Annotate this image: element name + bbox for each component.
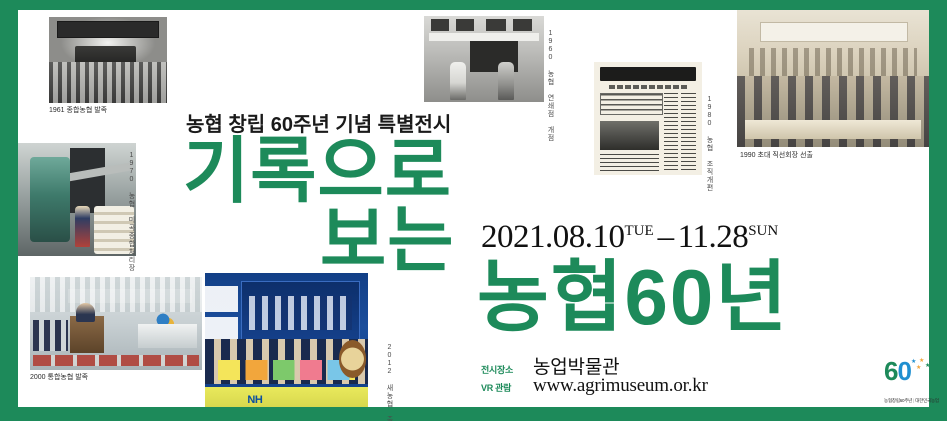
newspaper-summary-box (600, 93, 662, 115)
photo-chain-store (424, 16, 544, 102)
logo-caption-right: 대한민국농업 (915, 398, 939, 403)
photo-2000-podium (70, 316, 104, 353)
photo-2000-speaker (76, 303, 95, 322)
photo-caption-2012: 2012 새농협 출범 (386, 344, 393, 421)
logo-digit-0: 0 (897, 356, 910, 386)
date-separator: – (654, 219, 678, 255)
photo-caption-1961: 1961 종합농협 발족 (49, 107, 107, 114)
photo-2000-head-table (138, 324, 196, 348)
photo-caption-2000: 2000 통합농협 발족 (30, 374, 88, 381)
exhibition-poster: 1961 종합농협 발족 1970 농협 미곡종합처리장 가동 1960 농협 … (0, 0, 947, 421)
photo-2012-side-caption (205, 286, 238, 342)
photo-2000-image (30, 277, 202, 370)
photo-1961-crowd (49, 62, 167, 103)
date-end: 11.28 (678, 219, 749, 255)
logo-caption-left: 농협창립60주년 (884, 398, 912, 403)
poster-headline: 농협60년 (477, 258, 789, 336)
photo-2012-screen (241, 281, 360, 345)
newspaper-subhead-bar (609, 85, 687, 90)
logo-caption: 농협창립60주년|대한민국농업 (884, 398, 939, 404)
newspaper-body-text (600, 154, 658, 172)
photo-2000-merger (30, 277, 202, 370)
frame-left-bar (0, 0, 18, 421)
photo-mill-machine (30, 157, 70, 243)
newspaper-column-1 (664, 93, 678, 172)
photo-2012-letter-cards (218, 360, 355, 380)
photo-store-sign-4 (513, 19, 532, 31)
newspaper-headline-bar (600, 67, 695, 82)
photo-1990-election (737, 10, 929, 147)
photo-store-sign-1 (431, 19, 449, 31)
date-start: 2021.08.10 (481, 219, 625, 255)
newspaper-photo (600, 121, 658, 150)
logo-digits: 60 (884, 358, 911, 384)
photo-2012-stage-front: NH (205, 387, 368, 407)
star-icon-4: ★ (916, 365, 921, 371)
poster-title-line-1: 기록으로 (183, 136, 452, 208)
photo-caption-1990: 1990 초대 직선회장 선출 (740, 152, 813, 159)
frame-bottom-bar (0, 407, 947, 421)
photo-store-person-2 (498, 62, 514, 100)
photo-store-image (424, 16, 544, 102)
date-start-weekday: TUE (625, 223, 654, 239)
photo-2012-image: NH (205, 273, 368, 407)
photo-1961-banner (58, 22, 157, 37)
photo-caption-store: 1960 농협 연쇄점 개점 (547, 30, 554, 142)
photo-news-image (594, 62, 702, 175)
poster-title-line-2: 보는 (320, 205, 454, 277)
photo-2012-drum (339, 340, 367, 378)
photo-mill-worker (75, 206, 90, 247)
photo-1961-image (49, 17, 167, 103)
photo-mill-image (18, 143, 136, 256)
photo-2000-rope-barrier (33, 355, 198, 366)
logo-digit-6: 6 (884, 356, 897, 386)
vr-url[interactable]: www.agrimuseum.or.kr (533, 375, 708, 397)
photo-2012-new-nh-launch: NH (205, 273, 368, 407)
exhibition-date-range: 2021.08.10TUE–11.28SUN (481, 219, 778, 256)
photo-2000-banner (68, 289, 192, 303)
photo-newspaper-clipping (594, 62, 702, 175)
photo-rice-mill (18, 143, 136, 256)
photo-store-person-1 (450, 62, 466, 100)
photo-1990-banner-text (749, 48, 918, 78)
star-icon-2: ★ (919, 358, 924, 364)
photo-2012-screen-content (249, 296, 352, 331)
vr-link-row[interactable]: VR 관람 www.agrimuseum.or.kr (481, 375, 708, 397)
photo-caption-news: 1980 농협 조직개편 (706, 96, 713, 192)
frame-top-bar (0, 0, 947, 10)
photo-store-sign-2 (456, 19, 474, 31)
photo-1990-banner (760, 22, 908, 42)
photo-store-sign-3 (486, 19, 505, 31)
logo-stars: ★ ★ ★ ★ (909, 358, 931, 372)
photo-mill-interior (70, 148, 105, 214)
newspaper-column-2 (681, 93, 695, 172)
photo-1961-ceremony (49, 17, 167, 103)
photo-caption-mill: 1970 농협 미곡종합처리장 가동 (128, 152, 135, 296)
nh-logo-text: NH (247, 394, 262, 406)
photo-store-awning (429, 33, 539, 41)
star-icon-3: ★ (925, 363, 930, 369)
anniversary-60-logo: ★ ★ ★ ★ 60 농협창립60주년|대한민국농업 (884, 358, 932, 404)
photo-1990-table (745, 120, 922, 139)
photo-1990-image (737, 10, 929, 147)
date-end-weekday: SUN (748, 223, 778, 239)
vr-label: VR 관람 (481, 381, 533, 394)
photo-2000-seated-guests (33, 320, 67, 352)
